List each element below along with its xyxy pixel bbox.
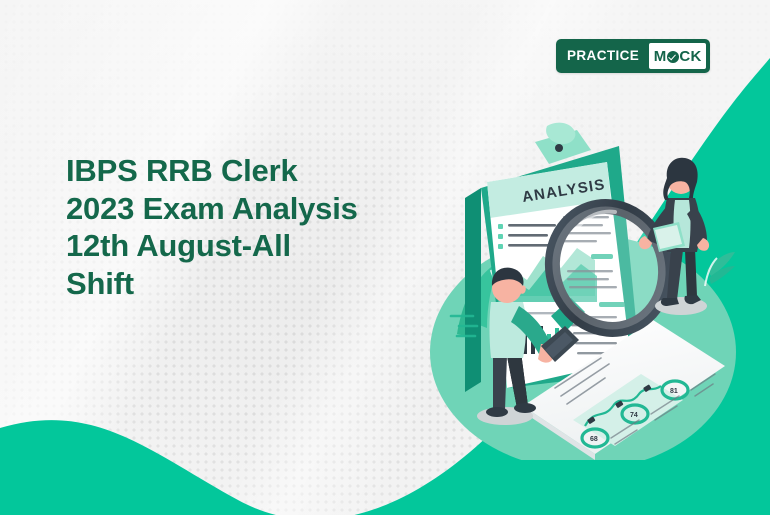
logo-practice-text: PRACTICE: [567, 49, 639, 63]
logo-mock-text: M CK: [654, 49, 702, 64]
page-title: IBPS RRB Clerk 2023 Exam Analysis 12th A…: [66, 152, 446, 303]
exam-analysis-banner: ANALYSIS: [0, 0, 770, 515]
logo-practice-part: PRACTICE: [556, 39, 649, 73]
svg-text:74: 74: [630, 412, 638, 419]
logo-mock-ck: CK: [679, 49, 701, 64]
logo-mock-m: M: [654, 49, 667, 64]
exam-analysis-illustration: ANALYSIS: [395, 120, 770, 460]
svg-text:68: 68: [590, 436, 598, 443]
check-circle-icon: [667, 51, 679, 63]
logo-mock-part: M CK: [649, 43, 706, 69]
practicemock-logo[interactable]: PRACTICE M CK: [556, 39, 710, 73]
svg-text:81: 81: [670, 388, 678, 395]
